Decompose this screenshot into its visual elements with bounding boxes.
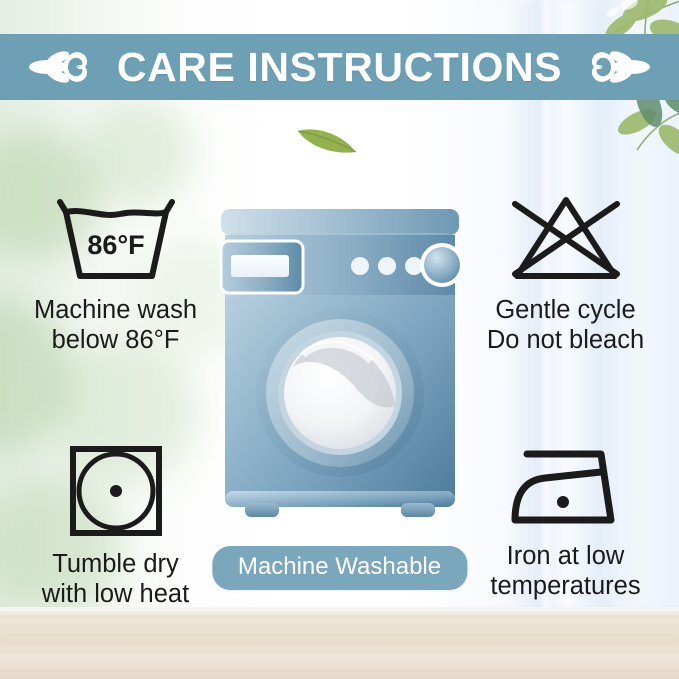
caption-line-2: below 86°F xyxy=(34,326,197,356)
machine-washable-badge: Machine Washable xyxy=(212,546,467,590)
washer-top-lid xyxy=(221,209,459,235)
washer-foot-right xyxy=(401,503,435,517)
caption-line-1: Tumble dry xyxy=(42,550,189,580)
care-symbol-machine-wash: 86°F Machine wash below 86°F xyxy=(8,192,223,356)
caption-line-1: Iron at low xyxy=(490,542,640,572)
fleur-de-lis-icon-right xyxy=(589,44,651,90)
care-instructions-infographic: CARE INSTRUCTIONS 86°F Machine wash belo… xyxy=(0,0,679,679)
wood-grain-texture xyxy=(0,607,679,679)
washer-foot-left xyxy=(245,503,279,517)
caption-line-2: with low heat xyxy=(42,580,189,610)
washer-display xyxy=(231,255,289,277)
caption-line-1: Gentle cycle xyxy=(487,296,644,326)
washer-program-knob[interactable] xyxy=(424,247,460,283)
care-symbol-iron-low: Iron at low temperatures xyxy=(458,442,673,602)
header-banner: CARE INSTRUCTIONS xyxy=(0,34,679,100)
iron-one-dot-icon xyxy=(505,442,627,532)
caption-tumble-dry: Tumble dry with low heat xyxy=(42,550,189,610)
caption-line-2: temperatures xyxy=(490,572,640,602)
tumble-dry-low-icon xyxy=(66,442,166,540)
floating-leaf-icon xyxy=(296,122,358,156)
wash-tub-icon: 86°F xyxy=(52,192,180,286)
washer-button-1[interactable] xyxy=(351,257,369,275)
care-symbol-do-not-bleach: Gentle cycle Do not bleach xyxy=(458,192,673,356)
caption-line-1: Machine wash xyxy=(34,296,197,326)
caption-do-not-bleach: Gentle cycle Do not bleach xyxy=(487,296,644,356)
fleur-de-lis-icon-left xyxy=(28,44,90,90)
wash-temperature-value: 86°F xyxy=(87,230,144,260)
care-symbol-tumble-dry: Tumble dry with low heat xyxy=(8,442,223,610)
washer-button-2[interactable] xyxy=(378,257,396,275)
washing-machine-illustration xyxy=(215,205,465,535)
triangle-crossed-out-icon xyxy=(507,192,625,286)
caption-iron-low: Iron at low temperatures xyxy=(490,542,640,602)
caption-machine-wash: Machine wash below 86°F xyxy=(34,296,197,356)
page-title: CARE INSTRUCTIONS xyxy=(117,44,562,91)
caption-line-2: Do not bleach xyxy=(487,326,644,356)
